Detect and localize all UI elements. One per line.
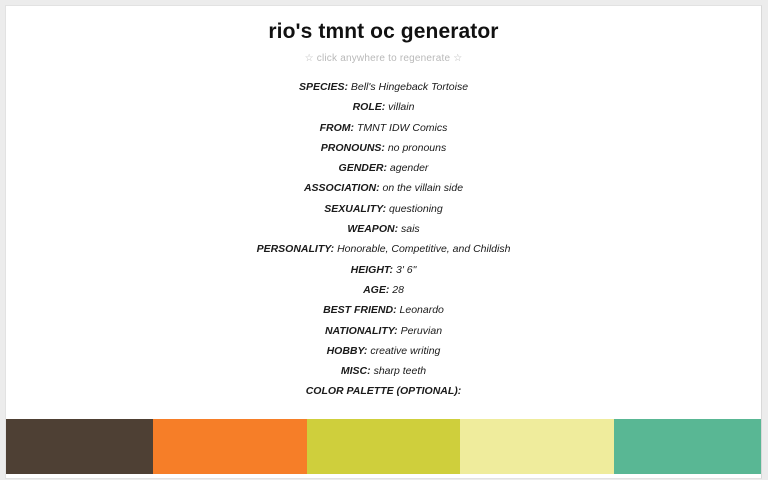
generator-page[interactable]: rio's tmnt oc generator ☆ click anywhere… (5, 5, 762, 479)
attribute-row: HEIGHT: 3' 6" (6, 260, 761, 280)
attribute-row: AGE: 28 (6, 280, 761, 300)
attribute-label: HEIGHT: (351, 264, 393, 276)
attribute-value: on the villain side (383, 182, 464, 194)
attribute-label: WEAPON: (347, 223, 398, 235)
attribute-row: WEAPON: sais (6, 219, 761, 239)
attribute-value: sais (401, 223, 420, 235)
attribute-value: sharp teeth (374, 365, 427, 377)
attribute-row: PERSONALITY: Honorable, Competitive, and… (6, 239, 761, 259)
attribute-value: no pronouns (388, 142, 446, 154)
attribute-value: Leonardo (400, 304, 444, 316)
regenerate-hint[interactable]: ☆ click anywhere to regenerate ☆ (6, 45, 761, 65)
attribute-row: MISC: sharp teeth (6, 361, 761, 381)
attribute-label: PRONOUNS: (321, 142, 385, 154)
attribute-value: Honorable, Competitive, and Childish (337, 243, 510, 255)
attribute-value: creative writing (370, 345, 440, 357)
attribute-row: SPECIES: Bell's Hingeback Tortoise (6, 77, 761, 97)
attribute-row: COLOR PALETTE (OPTIONAL): (6, 381, 761, 401)
attribute-row: FROM: TMNT IDW Comics (6, 118, 761, 138)
attribute-label: COLOR PALETTE (OPTIONAL): (306, 385, 462, 397)
attribute-row: ROLE: villain (6, 97, 761, 117)
attribute-label: SEXUALITY: (324, 203, 386, 215)
color-swatch (307, 419, 460, 474)
attribute-value: villain (388, 101, 414, 113)
attribute-row: PRONOUNS: no pronouns (6, 138, 761, 158)
page-title: rio's tmnt oc generator (6, 6, 761, 45)
attribute-label: BEST FRIEND: (323, 304, 397, 316)
color-swatch (614, 419, 762, 474)
color-swatch (460, 419, 613, 474)
content-column: rio's tmnt oc generator ☆ click anywhere… (6, 6, 761, 402)
attribute-value: agender (390, 162, 429, 174)
attribute-value: TMNT IDW Comics (357, 122, 447, 134)
oc-attribute-list: SPECIES: Bell's Hingeback TortoiseROLE: … (6, 65, 761, 402)
attribute-label: PERSONALITY: (257, 243, 335, 255)
attribute-value: Bell's Hingeback Tortoise (351, 81, 468, 93)
color-swatch (153, 419, 306, 474)
attribute-row: ASSOCIATION: on the villain side (6, 178, 761, 198)
attribute-value: 3' 6" (396, 264, 416, 276)
attribute-label: ASSOCIATION: (304, 182, 380, 194)
attribute-label: FROM: (320, 122, 354, 134)
attribute-value: 28 (392, 284, 404, 296)
attribute-value: questioning (389, 203, 443, 215)
attribute-value: Peruvian (401, 325, 442, 337)
attribute-row: SEXUALITY: questioning (6, 199, 761, 219)
attribute-row: BEST FRIEND: Leonardo (6, 300, 761, 320)
attribute-label: ROLE: (353, 101, 386, 113)
attribute-label: HOBBY: (327, 345, 368, 357)
color-swatch (5, 419, 153, 474)
attribute-row: NATIONALITY: Peruvian (6, 321, 761, 341)
attribute-label: AGE: (363, 284, 389, 296)
color-palette-strip (5, 419, 762, 474)
attribute-label: MISC: (341, 365, 371, 377)
attribute-row: GENDER: agender (6, 158, 761, 178)
attribute-row: HOBBY: creative writing (6, 341, 761, 361)
attribute-label: NATIONALITY: (325, 325, 398, 337)
attribute-label: SPECIES: (299, 81, 348, 93)
attribute-label: GENDER: (339, 162, 387, 174)
